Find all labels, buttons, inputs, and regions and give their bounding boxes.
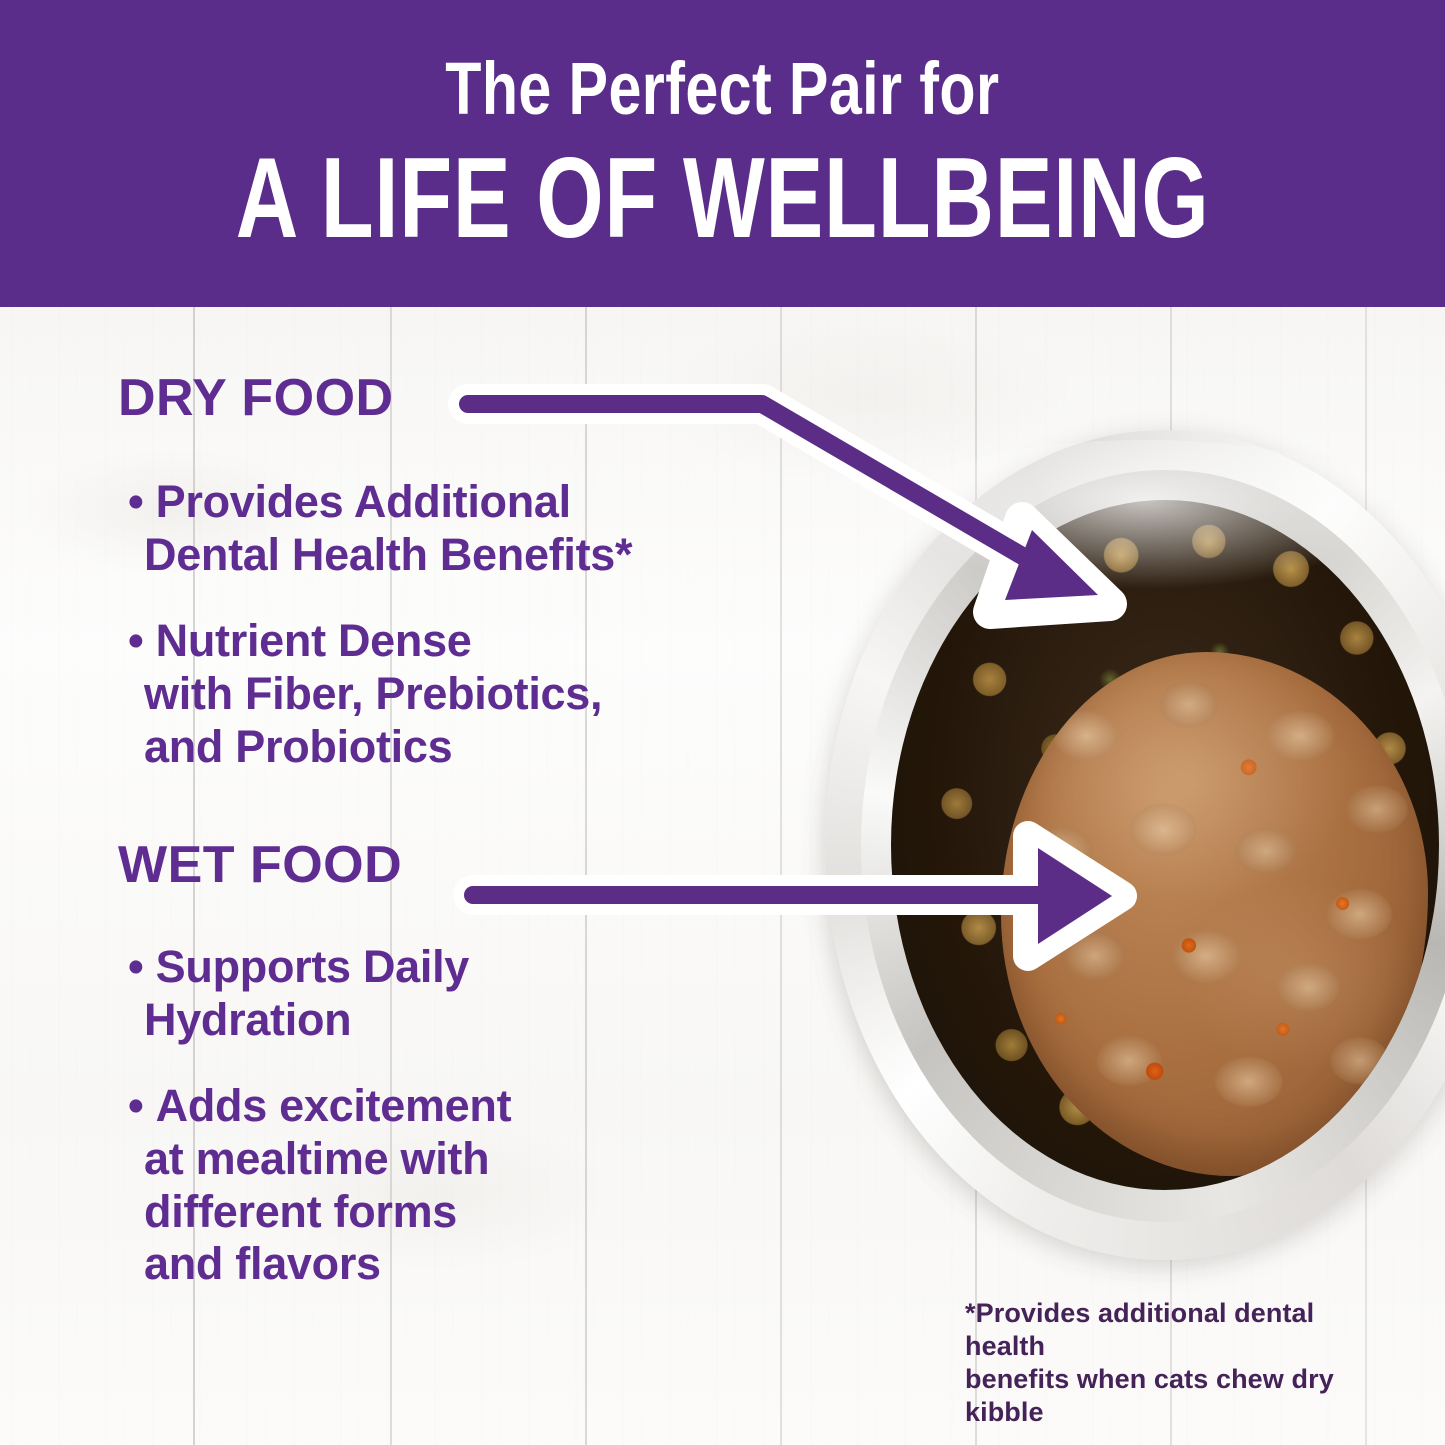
benefits-copy-column: DRY FOOD Provides Additional Dental Heal… bbox=[118, 372, 818, 1291]
gravy-highlight bbox=[1001, 652, 1428, 1176]
list-item: Provides Additional Dental Health Benefi… bbox=[118, 476, 818, 581]
bowl-interior bbox=[891, 500, 1439, 1190]
food-bowl-image bbox=[825, 430, 1445, 1260]
wet-food-heading: WET FOOD bbox=[118, 839, 818, 891]
list-item: Supports Daily Hydration bbox=[118, 941, 818, 1046]
banner-headline-text: A LIFE OF WELLBEING bbox=[236, 142, 1210, 256]
wet-food-bullet-list: Supports Daily Hydration Adds excitement… bbox=[118, 941, 818, 1291]
infographic-page: The Perfect Pair for A LIFE OF WELLBEING bbox=[0, 0, 1445, 1445]
dry-food-heading: DRY FOOD bbox=[118, 372, 818, 424]
footnote-disclaimer: *Provides additional dental health benef… bbox=[965, 1297, 1385, 1429]
wet-food-gravy bbox=[1001, 652, 1428, 1176]
dry-food-bullet-list: Provides Additional Dental Health Benefi… bbox=[118, 476, 818, 773]
list-item: Adds excitement at mealtime with differe… bbox=[118, 1080, 818, 1291]
header-banner: The Perfect Pair for A LIFE OF WELLBEING bbox=[0, 0, 1445, 307]
banner-eyebrow-text: The Perfect Pair for bbox=[445, 52, 999, 126]
list-item: Nutrient Dense with Fiber, Prebiotics, a… bbox=[118, 615, 818, 773]
